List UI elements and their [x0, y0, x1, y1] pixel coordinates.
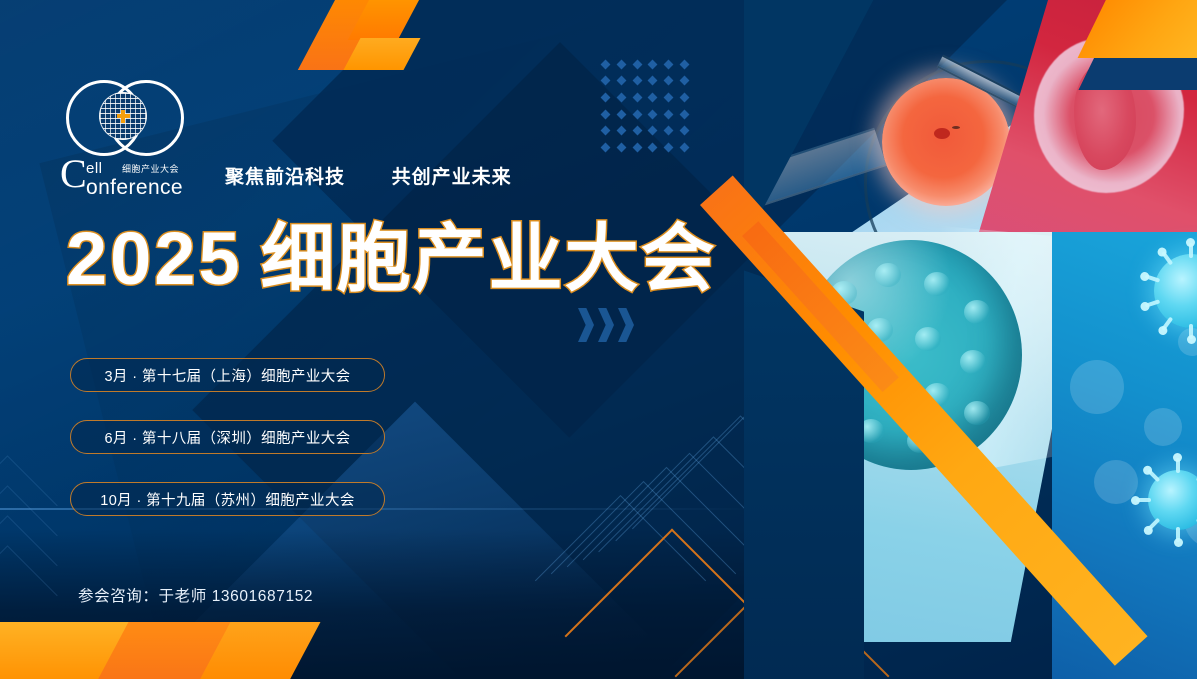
chevron-line-icon [535, 495, 706, 666]
plus-icon [117, 114, 130, 118]
orange-stripe-icon [0, 622, 136, 679]
chevron-line-icon [0, 455, 58, 555]
orange-stripe-icon [348, 0, 422, 40]
logo-chinese-subtitle: 细胞产业大会 [122, 162, 179, 175]
logo-text-ell: ell [86, 160, 103, 177]
sperm-cell [934, 128, 950, 139]
bokeh-circle [1144, 408, 1182, 446]
event-pill[interactable]: 3月 · 第十七届（上海）细胞产业大会 [70, 358, 385, 392]
event-list: 3月 · 第十七届（上海）细胞产业大会 6月 · 第十八届（深圳）细胞产业大会 … [70, 358, 385, 544]
blue-chevron-arrows-icon [578, 308, 634, 342]
event-pill[interactable]: 10月 · 第十九届（苏州）细胞产业大会 [70, 482, 385, 516]
tagline: 聚焦前沿科技 共创产业未来 [225, 162, 512, 189]
oocyte-cell [882, 78, 1010, 206]
globe-icon [99, 92, 147, 140]
tagline-right: 共创产业未来 [392, 167, 512, 188]
logo-text-onference: onference [86, 176, 183, 200]
logo-wordmark: C ell 细胞产业大会 onference [60, 156, 190, 202]
cell-division-globe-logo-icon [66, 80, 186, 150]
event-pill[interactable]: 6月 · 第十八届（深圳）细胞产业大会 [70, 420, 385, 454]
dot-grid-pattern [598, 56, 692, 156]
bokeh-circle [1070, 360, 1124, 414]
virus-particle-icon [1148, 470, 1197, 530]
logo[interactable]: C ell 细胞产业大会 onference [60, 80, 190, 202]
virus-particle-icon [1154, 254, 1197, 328]
orange-stripe-icon [96, 622, 237, 679]
chevron-line-icon [0, 485, 58, 585]
imagery-collage [744, 0, 1197, 679]
chevron-line-icon [0, 515, 58, 615]
tagline-left: 聚焦前沿科技 [225, 167, 345, 188]
chevron-line-icon [567, 467, 766, 666]
chevron-line-icon [551, 481, 736, 666]
orange-stripe-icon [343, 38, 420, 70]
chevron-line-icon [0, 545, 58, 645]
orange-stripe-icon [298, 0, 396, 70]
conference-banner: C ell 细胞产业大会 onference 聚焦前沿科技 共创产业未来 202… [0, 0, 1197, 679]
page-title: 2025细胞产业大会 [66, 222, 717, 296]
logo-letter-c: C [60, 154, 87, 194]
title-year: 2025 [66, 217, 243, 300]
contact-info: 参会咨询：于老师 13601687152 [78, 584, 313, 606]
title-name: 细胞产业大会 [261, 217, 717, 300]
orange-stripe-icon [198, 622, 321, 679]
